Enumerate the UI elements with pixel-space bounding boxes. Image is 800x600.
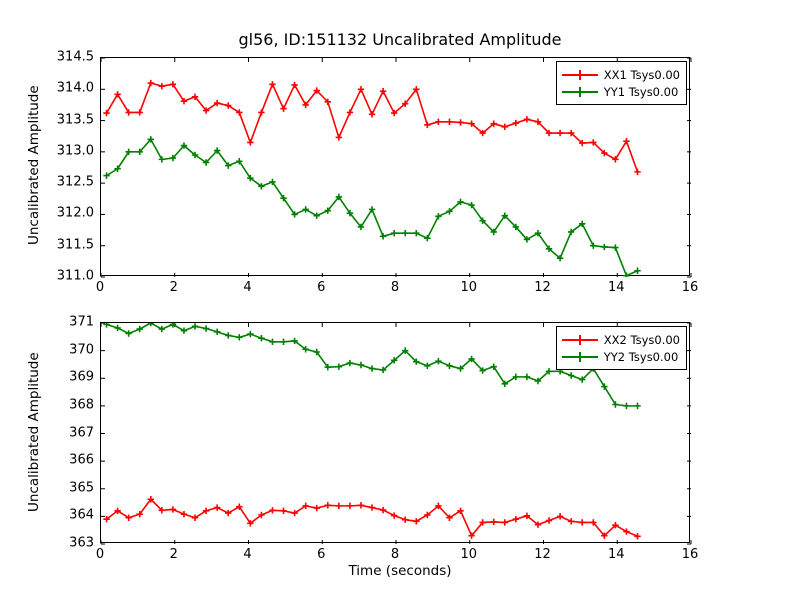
y-tick-label: 370 (69, 342, 94, 357)
x-tick-label: 0 (96, 280, 104, 295)
x-tick-label: 8 (391, 547, 399, 562)
y-tick-label: 365 (69, 480, 94, 495)
x-tick-label: 14 (608, 547, 625, 562)
y-tick-label: 313.5 (57, 112, 94, 127)
x-tick-label: 2 (170, 280, 178, 295)
legend-item-yy2: YY2 Tsys0.00 (562, 348, 680, 365)
legend-item-xx1: XX1 Tsys0.00 (562, 66, 680, 83)
legend-line-icon-yy1 (562, 86, 598, 98)
y-tick-label: 363 (69, 536, 94, 551)
y-axis-label-bottom: Uncalibrated Amplitude (26, 352, 42, 512)
y-axis-label-top: Uncalibrated Amplitude (26, 85, 42, 245)
y-tick-label: 314.0 (57, 81, 94, 96)
x-tick-label: 8 (391, 280, 399, 295)
y-tick-label: 371 (69, 315, 94, 330)
x-axis-label-bottom: Time (seconds) (0, 563, 800, 579)
legend-line-icon-yy2 (562, 351, 598, 363)
y-tick-label: 364 (69, 508, 94, 523)
legend-top: XX1 Tsys0.00 YY1 Tsys0.00 (556, 61, 687, 105)
legend-item-xx2: XX2 Tsys0.00 (562, 331, 680, 348)
y-tick-label: 369 (69, 370, 94, 385)
y-tick-label: 368 (69, 397, 94, 412)
x-tick-label: 6 (317, 547, 325, 562)
legend-label-yy1: YY1 Tsys0.00 (604, 85, 679, 99)
legend-line-icon-xx2 (562, 334, 598, 346)
x-tick-label: 12 (534, 280, 551, 295)
y-tick-label: 311.5 (57, 237, 94, 252)
chart-panel-bottom: XX2 Tsys0.00 YY2 Tsys0.00 (100, 322, 690, 543)
matplotlib-figure: gl56, ID:151132 Uncalibrated Amplitude X… (0, 0, 800, 600)
y-tick-label: 312.0 (57, 206, 94, 221)
x-tick-label: 14 (608, 280, 625, 295)
x-tick-label: 4 (243, 280, 251, 295)
y-tick-label: 366 (69, 453, 94, 468)
x-tick-label: 4 (243, 547, 251, 562)
legend-bottom: XX2 Tsys0.00 YY2 Tsys0.00 (556, 326, 687, 370)
legend-label-xx2: XX2 Tsys0.00 (604, 333, 680, 347)
y-tick-label: 367 (69, 425, 94, 440)
legend-label-yy2: YY2 Tsys0.00 (604, 350, 679, 364)
x-tick-label: 10 (460, 547, 477, 562)
y-tick-label: 311.0 (57, 269, 94, 284)
x-tick-label: 16 (682, 280, 699, 295)
x-tick-label: 10 (460, 280, 477, 295)
chart-panel-top: XX1 Tsys0.00 YY1 Tsys0.00 (100, 57, 690, 276)
y-tick-label: 314.5 (57, 50, 94, 65)
page-title: gl56, ID:151132 Uncalibrated Amplitude (0, 30, 800, 49)
legend-label-xx1: XX1 Tsys0.00 (604, 68, 680, 82)
legend-line-icon-xx1 (562, 69, 598, 81)
x-tick-label: 2 (170, 547, 178, 562)
x-tick-label: 12 (534, 547, 551, 562)
x-tick-label: 0 (96, 547, 104, 562)
x-tick-label: 6 (317, 280, 325, 295)
x-tick-label: 16 (682, 547, 699, 562)
y-tick-label: 313.0 (57, 143, 94, 158)
y-tick-label: 312.5 (57, 175, 94, 190)
legend-item-yy1: YY1 Tsys0.00 (562, 83, 680, 100)
